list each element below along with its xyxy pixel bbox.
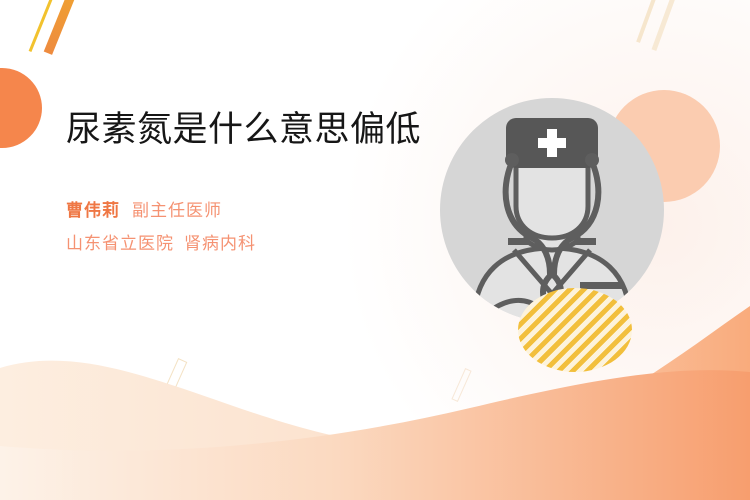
byline: 曹伟莉副主任医师 山东省立医院肾病内科	[66, 195, 426, 260]
decor-wave-back	[0, 290, 750, 500]
doctor-illustration-svg	[440, 98, 664, 322]
doctor-name: 曹伟莉	[66, 201, 120, 220]
doctor-info-card: 尿素氮是什么意思偏低 曹伟莉副主任医师 山东省立医院肾病内科	[0, 0, 750, 500]
decor-orange-stripe-top-left	[44, 0, 82, 55]
stethoscope-earpiece-left	[505, 153, 519, 167]
text-block: 尿素氮是什么意思偏低 曹伟莉副主任医师 山东省立医院肾病内科	[66, 108, 426, 260]
decor-cream-stripe-top-right-b	[652, 0, 678, 51]
decor-outline-bar-b	[451, 368, 471, 402]
decor-yellow-stripe-top-left	[29, 0, 59, 52]
doctor-title: 副主任医师	[132, 201, 222, 220]
decor-cream-stripe-top-right-a	[636, 0, 660, 43]
hospital-name: 山东省立医院	[66, 234, 174, 253]
doctor-avatar	[440, 98, 664, 322]
decor-outline-bar-a	[159, 358, 188, 406]
doctor-line: 曹伟莉副主任医师	[66, 195, 426, 227]
stethoscope-earpiece-right	[585, 153, 599, 167]
department-name: 肾病内科	[184, 234, 256, 253]
page-title: 尿素氮是什么意思偏低	[66, 108, 426, 151]
decor-wave-front	[0, 330, 750, 500]
affiliation-line: 山东省立医院肾病内科	[66, 228, 426, 260]
decor-orange-circle	[0, 68, 42, 148]
coat-pocket-line	[580, 282, 624, 289]
